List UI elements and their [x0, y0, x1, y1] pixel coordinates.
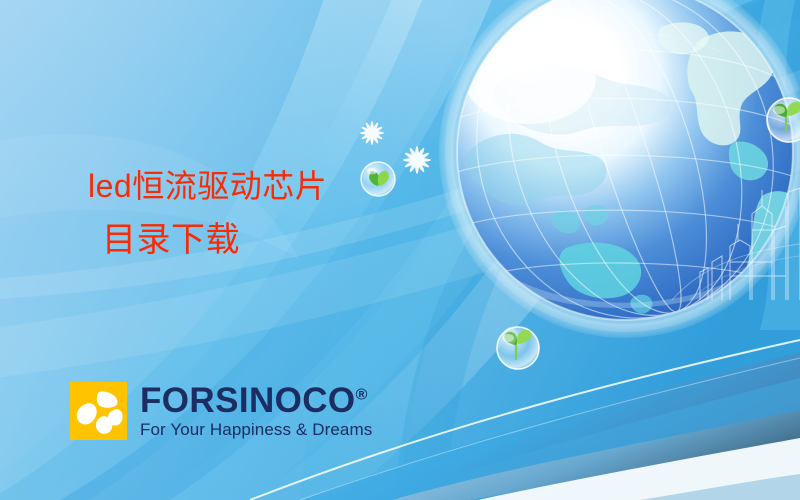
- bubble-with-leaf: [497, 327, 539, 369]
- bubble-with-leaf: [361, 162, 395, 196]
- slide-canvas: led恒流驱动芯片 目录下载 FORSINOCO® For Your Happi…: [0, 0, 800, 500]
- company-logo[interactable]: FORSINOCO® For Your Happiness & Dreams: [70, 382, 372, 440]
- registered-trademark-icon: ®: [356, 386, 368, 403]
- logo-tagline: For Your Happiness & Dreams: [140, 421, 372, 440]
- logo-wordmark-text: FORSINOCO: [140, 381, 356, 420]
- logo-mark-icon: [70, 382, 127, 440]
- logo-wordmark: FORSINOCO®: [140, 383, 372, 418]
- logo-text-block: FORSINOCO® For Your Happiness & Dreams: [140, 383, 372, 440]
